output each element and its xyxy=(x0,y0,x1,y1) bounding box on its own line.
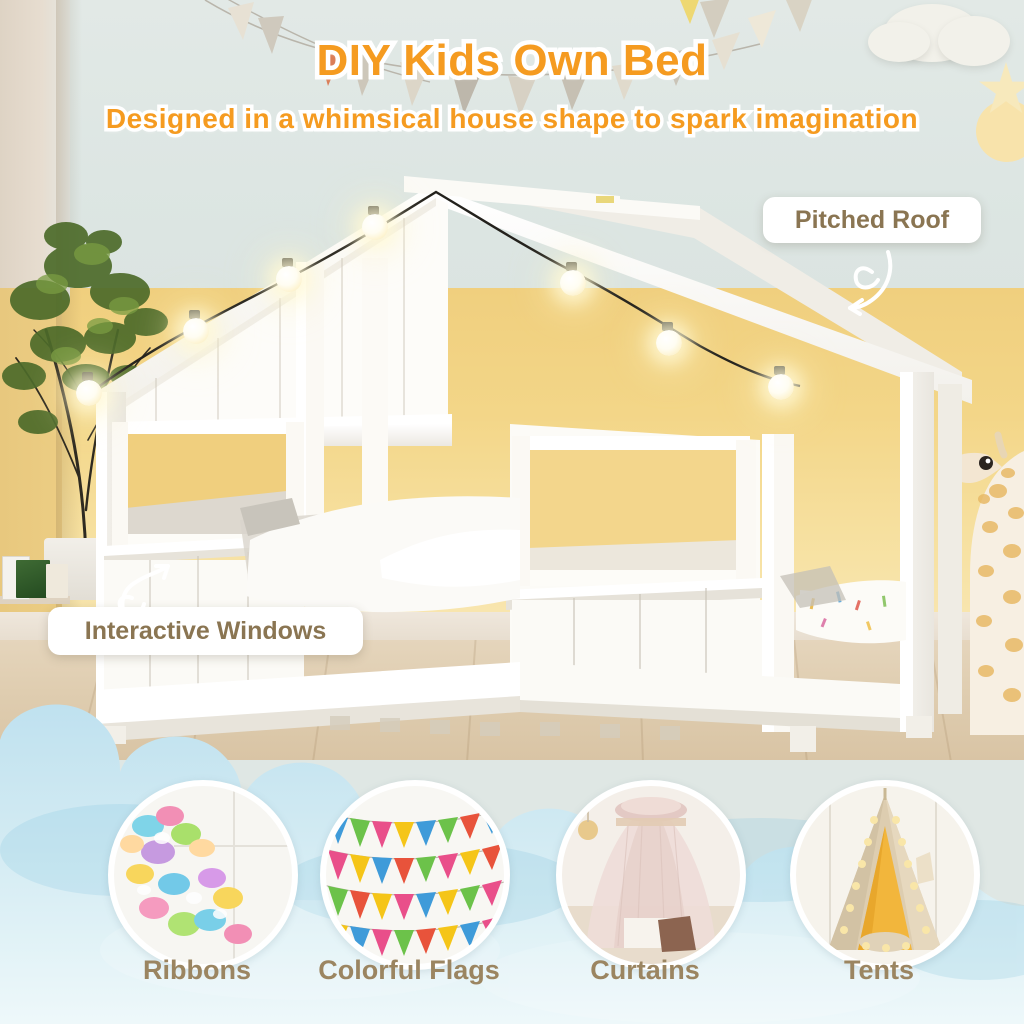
light-bulb xyxy=(560,270,586,296)
accessory-thumbnail-tents[interactable] xyxy=(790,780,980,970)
light-bulb xyxy=(768,374,794,400)
product-banner: DIY Kids Own Bed Designed in a whimsical… xyxy=(0,0,1024,1024)
accessory-label-tents: Tents xyxy=(779,955,979,986)
page-subtitle: Designed in a whimsical house shape to s… xyxy=(0,103,1024,135)
accessory-label-colorful-flags: Colorful Flags xyxy=(309,955,509,986)
accessory-label-ribbons: Ribbons xyxy=(97,955,297,986)
accessory-thumbnail-colorful-flags[interactable] xyxy=(320,780,510,970)
accessory-label-curtains: Curtains xyxy=(545,955,745,986)
accessory-thumbnail-curtains[interactable] xyxy=(556,780,746,970)
callout-label: Pitched Roof xyxy=(795,206,949,235)
light-bulb xyxy=(362,214,388,240)
callout-interactive-windows: Interactive Windows xyxy=(48,607,363,655)
light-bulb xyxy=(656,330,682,356)
page-title: DIY Kids Own Bed xyxy=(0,36,1024,86)
accessory-thumbnail-ribbons[interactable] xyxy=(108,780,298,970)
callout-label: Interactive Windows xyxy=(85,617,327,646)
callout-pitched-roof: Pitched Roof xyxy=(763,197,981,243)
light-bulb xyxy=(276,266,302,292)
light-bulb xyxy=(183,318,209,344)
light-bulb xyxy=(76,380,102,406)
